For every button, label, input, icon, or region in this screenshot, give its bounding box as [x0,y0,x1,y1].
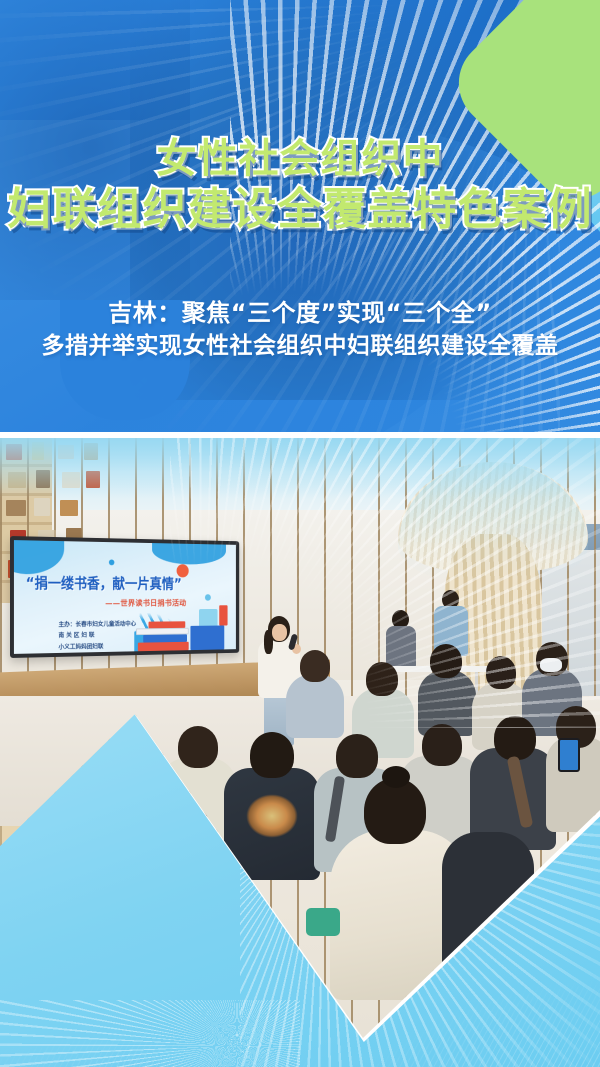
screen-decor-books [134,602,229,652]
photo-teal-cloth [306,908,340,936]
photo-audience-head [486,656,516,689]
title-line-1: 女性社会组织中 [0,136,600,182]
screen-organizers: 主办：长春市妇女儿童活动中心 南 关 区 妇 联 小义工妈妈团妇联 [58,619,136,653]
photo-audience-head [336,734,378,778]
screen-book [136,628,189,635]
screen-book [190,625,224,650]
screen-decor-dot-cyan [205,594,211,600]
photo-audience-head [422,724,462,766]
page-subtitle: 吉林：聚焦“三个度”实现“三个全” 多措并举实现女性社会组织中妇联组织建设全覆盖 [0,296,600,363]
photo-phone-screen [558,738,580,772]
photo-audience-head [300,650,330,682]
photo-top-fade [0,438,600,498]
screen-organizer-line: 小义工妈妈团妇联 [58,641,136,654]
photo-audience-head [494,716,536,760]
screen-decor-dot-blue [109,559,114,565]
photo-jacket-embroidery [246,794,298,838]
screen-decor-blob-left [10,536,64,574]
screen-organizer-line: 主办：长春市妇女儿童活动中心 [58,619,136,631]
photo-audience-head [178,726,218,768]
subtitle-line-2: 多措并举实现女性社会组织中妇联组织建设全覆盖 [0,330,600,363]
photo-person-shelf-left-body [386,626,416,668]
photo-audience-face-mask [540,658,562,672]
screen-book [138,642,189,651]
projection-screen: “捐一缕书香，献一片真情” ——世界读书日捐书活动 主办：长春市妇女儿童活动中心… [10,536,239,658]
photo-audience-front-bun [382,766,410,788]
screen-book [219,605,227,625]
screen-book [149,621,186,628]
subtitle-line-1: 吉林：聚焦“三个度”实现“三个全” [0,296,600,330]
screen-headline: “捐一缕书香，献一片真情” [26,572,218,593]
screen-book [199,609,218,626]
decor-fan-left [0,1000,300,1067]
screen-decor-blob-right [152,536,226,565]
photo-audience-body [286,674,344,738]
photo-audience-head [366,662,398,696]
screen-book [143,634,187,642]
photo-audience-head [250,732,294,778]
photo-speaker-face [272,624,287,641]
photo-audience-head [430,644,462,678]
title-line-2: 妇联组织建设全覆盖特色案例 [0,184,600,235]
poster-root: 女性社会组织中 妇联组织建设全覆盖特色案例 吉林：聚焦“三个度”实现“三个全” … [0,0,600,1067]
page-title: 女性社会组织中 妇联组织建设全覆盖特色案例 [0,136,600,235]
